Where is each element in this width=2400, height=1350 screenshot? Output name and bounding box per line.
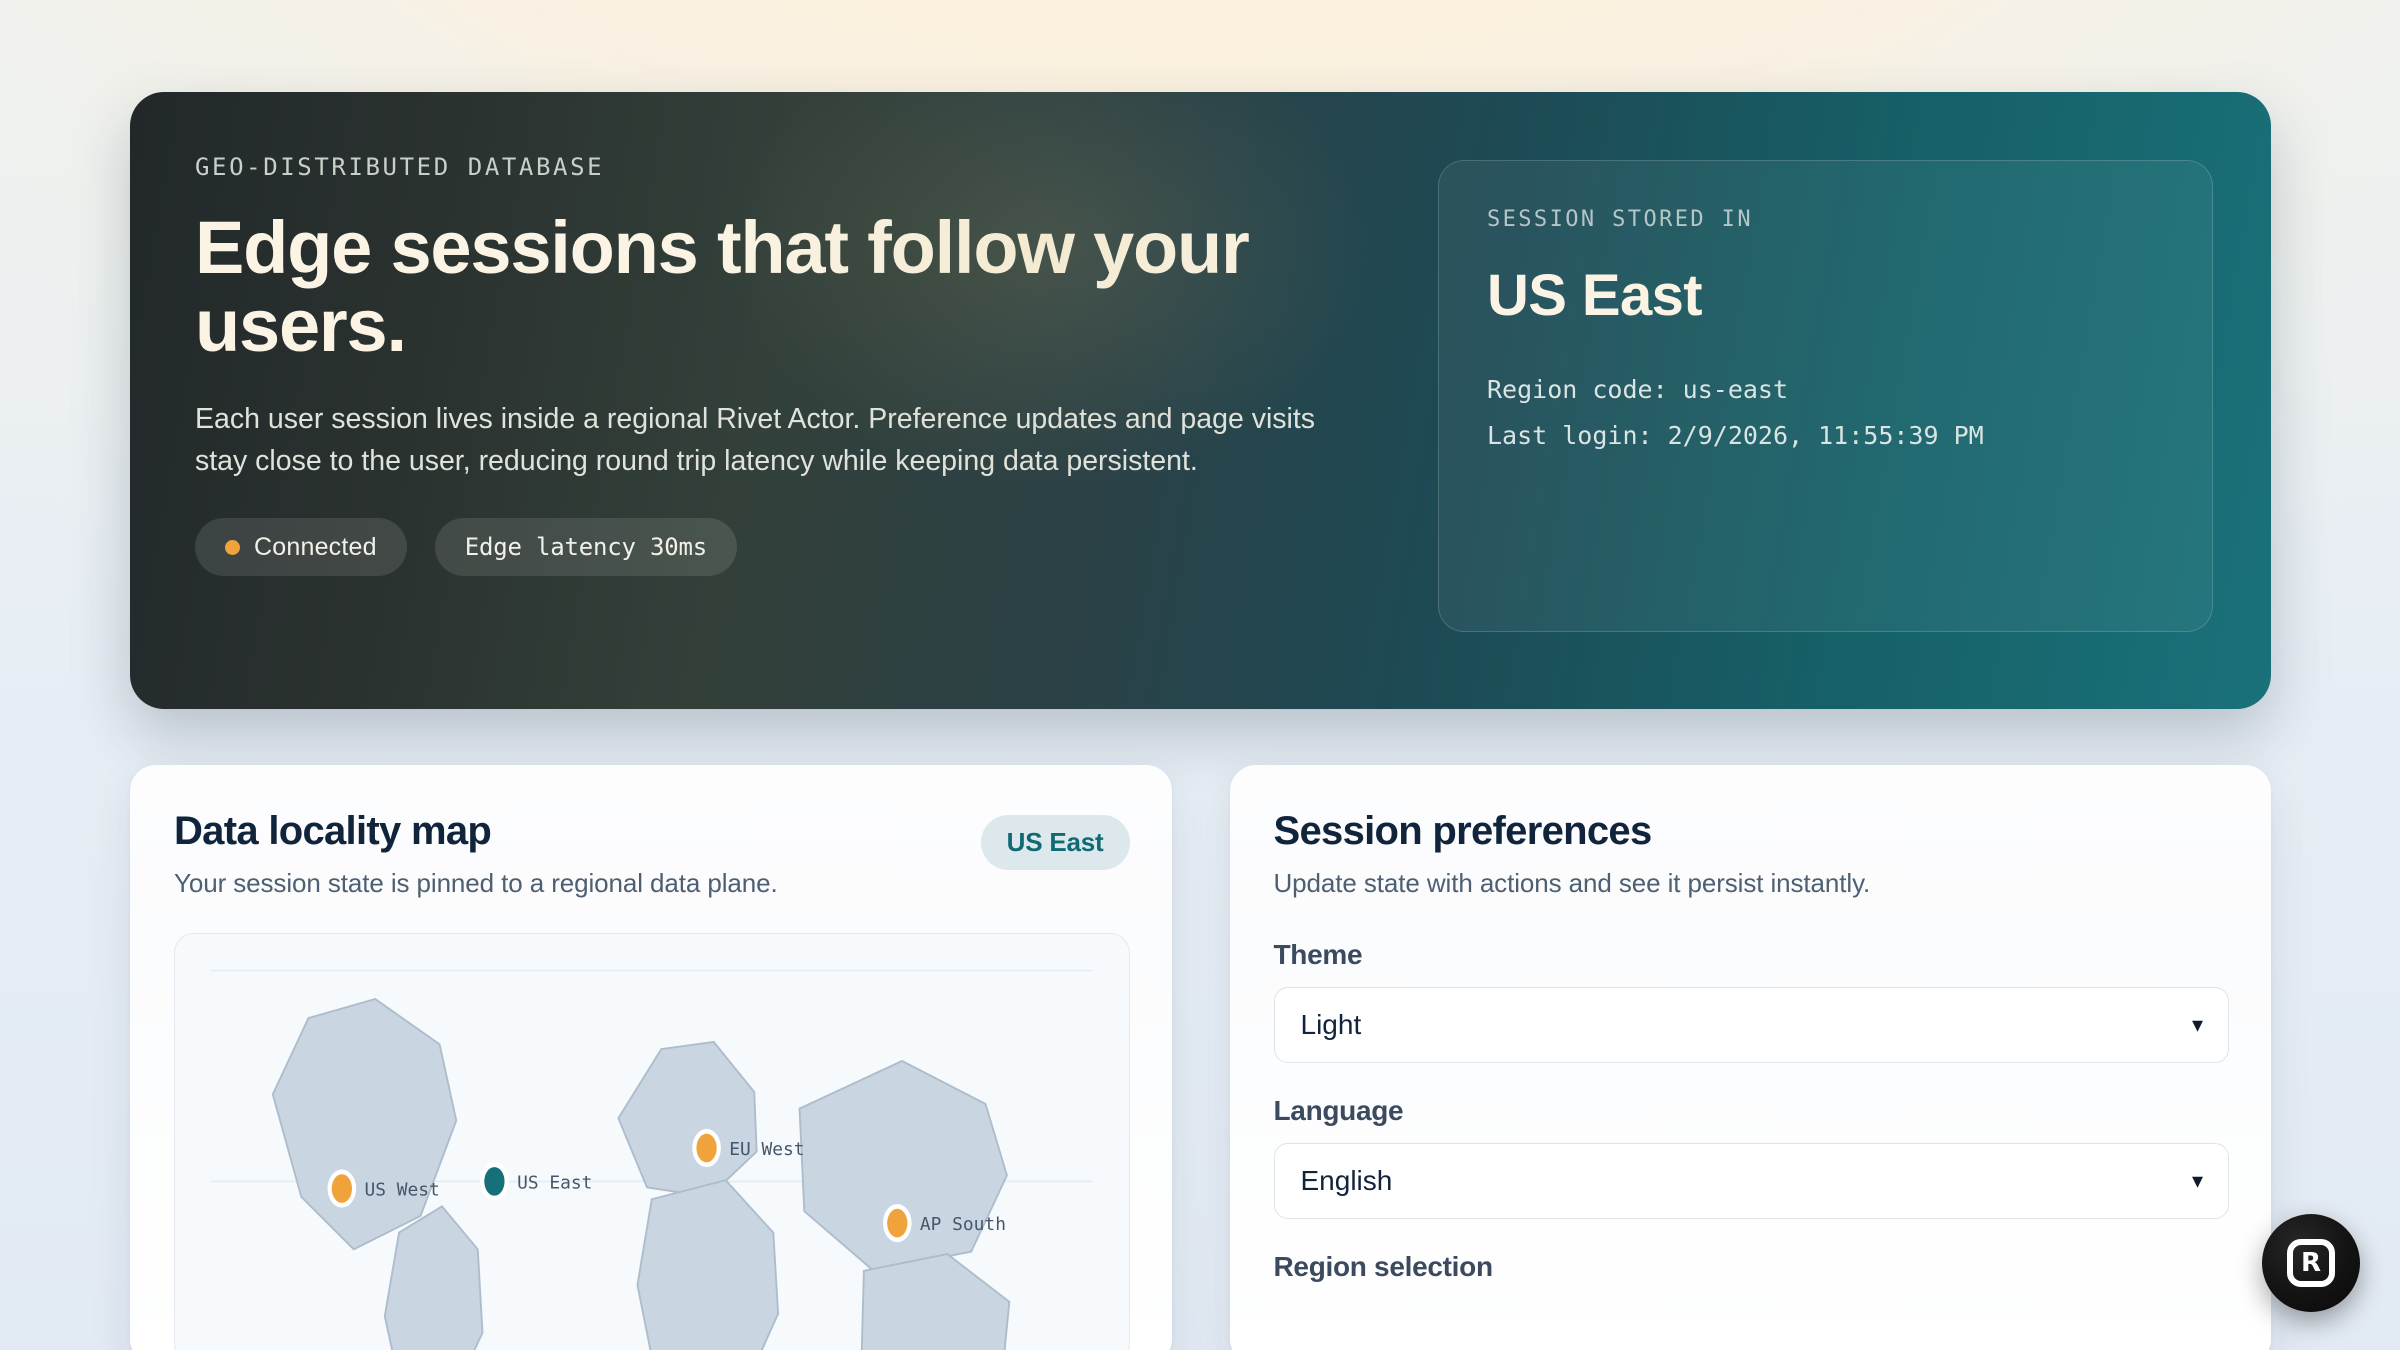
hero-eyebrow: GEO-DISTRIBUTED DATABASE (195, 153, 1400, 181)
marker-dot-us-east (484, 1167, 504, 1196)
hero-title: Edge sessions that follow your users. (195, 209, 1285, 366)
last-login-line: Last login: 2/9/2026, 11:55:39 PM (1487, 413, 2166, 459)
hero-description: Each user session lives inside a regiona… (195, 398, 1375, 482)
theme-select-wrapper[interactable]: Light ▾ (1274, 987, 2230, 1063)
rivet-logo-icon: R (2287, 1239, 2335, 1287)
preferences-card-title: Session preferences (1274, 809, 1871, 854)
status-dot-icon (225, 540, 240, 555)
cards-row: Data locality map Your session state is … (130, 765, 2271, 1350)
preferences-card-header: Session preferences Update state with ac… (1274, 809, 2230, 899)
marker-label-us-west: US West (365, 1180, 440, 1201)
region-selection-field-label: Region selection (1274, 1251, 2230, 1283)
landmass-europe (618, 1042, 756, 1197)
session-stored-label: SESSION STORED IN (1487, 207, 2166, 232)
landmass-oceania (862, 1254, 1010, 1350)
session-card-meta: Region code: us-east Last login: 2/9/202… (1487, 367, 2166, 458)
landmass-north-america (273, 999, 457, 1249)
map-card-title: Data locality map (174, 809, 778, 854)
marker-dot-eu-west (696, 1134, 716, 1163)
marker-dot-us-west (332, 1174, 352, 1203)
rivet-logo-glyph: R (2301, 1250, 2321, 1276)
connection-status-pill: Connected (195, 518, 407, 576)
connection-status-label: Connected (254, 533, 377, 562)
theme-select[interactable]: Light (1274, 987, 2230, 1063)
language-select[interactable]: English (1274, 1143, 2230, 1219)
map-marker-us-east[interactable]: US East (480, 1162, 592, 1200)
region-code-line: Region code: us-east (1487, 367, 2166, 413)
preferences-form: Theme Light ▾ Language English ▾ Region … (1274, 939, 2230, 1283)
page-scroll-container[interactable]: GEO-DISTRIBUTED DATABASE Edge sessions t… (0, 0, 2400, 1350)
world-map[interactable]: US West US East EU West (174, 933, 1130, 1350)
hero-banner: GEO-DISTRIBUTED DATABASE Edge sessions t… (130, 92, 2271, 709)
world-map-svg: US West US East EU West (175, 934, 1129, 1350)
session-preferences-card: Session preferences Update state with ac… (1230, 765, 2272, 1350)
landmass-south-america (385, 1206, 483, 1350)
marker-label-eu-west: EU West (729, 1139, 804, 1160)
preferences-card-subtitle: Update state with actions and see it per… (1274, 868, 1871, 899)
theme-field-label: Theme (1274, 939, 2230, 971)
hero-status-pills: Connected Edge latency 30ms (195, 518, 1400, 576)
marker-dot-ap-south (887, 1209, 907, 1238)
map-card-subtitle: Your session state is pinned to a region… (174, 868, 778, 899)
language-select-wrapper[interactable]: English ▾ (1274, 1143, 2230, 1219)
preferences-heading-group: Session preferences Update state with ac… (1274, 809, 1871, 899)
hero-text-column: GEO-DISTRIBUTED DATABASE Edge sessions t… (195, 146, 1400, 576)
map-card-header: Data locality map Your session state is … (174, 809, 1130, 899)
map-card-heading-group: Data locality map Your session state is … (174, 809, 778, 899)
marker-label-ap-south: AP South (920, 1214, 1006, 1235)
map-region-badge: US East (981, 815, 1130, 870)
session-stored-card: SESSION STORED IN US East Region code: u… (1438, 160, 2213, 632)
edge-latency-label: Edge latency 30ms (465, 533, 707, 561)
data-locality-map-card: Data locality map Your session state is … (130, 765, 1172, 1350)
language-field-label: Language (1274, 1095, 2230, 1127)
marker-label-us-east: US East (517, 1173, 592, 1194)
landmass-africa (637, 1180, 778, 1350)
map-landmasses (273, 999, 1010, 1350)
rivet-logo-button[interactable]: R (2262, 1214, 2360, 1312)
edge-latency-pill: Edge latency 30ms (435, 518, 737, 576)
session-region-name: US East (1487, 262, 2166, 329)
